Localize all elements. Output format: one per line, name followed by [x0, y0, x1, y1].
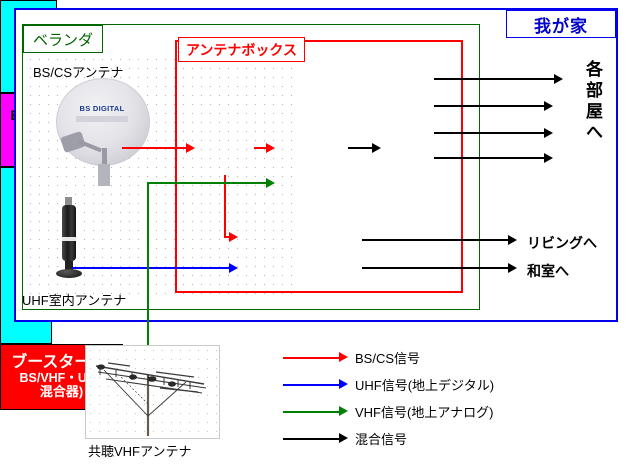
arrow-room-4 — [544, 153, 553, 163]
uhf-indoor-antenna — [56, 205, 82, 283]
legend-label-mixed: 混合信号 — [355, 429, 407, 448]
legend-label-uhf: UHF信号(地上デジタル) — [355, 375, 494, 394]
arrow-uhf-to-booster — [229, 263, 238, 273]
arrow-to-washitsu — [508, 263, 517, 273]
legend-swatch-bscs — [283, 357, 341, 359]
house-label: 我が家 — [506, 10, 616, 38]
legend-arrow-uhf — [339, 379, 348, 389]
arrow-room-2 — [544, 101, 553, 111]
legend: BS/CS信号 UHF信号(地上デジタル) VHF信号(地上アナログ) 混合信号 — [283, 348, 583, 448]
line-room-1 — [434, 78, 556, 80]
booster-line-3: 混合器) — [40, 385, 83, 399]
dish-mast — [98, 164, 110, 186]
legend-arrow-mixed — [339, 433, 348, 443]
legend-swatch-uhf — [283, 384, 341, 386]
legend-swatch-mixed — [283, 438, 341, 440]
legend-arrow-vhf — [339, 406, 348, 416]
line-bscs-to-splitter — [122, 147, 188, 149]
diagram-canvas: 我が家 ベランダ アンテナボックス BS/CSアンテナ BS DIGITAL U… — [0, 0, 630, 472]
arrow-to-living — [508, 235, 517, 245]
shared-vhf-antenna-caption: 共聴VHFアンテナ — [88, 441, 191, 460]
line-to-living — [362, 239, 510, 241]
arrow-bscs-to-splitter — [186, 143, 195, 153]
line-to-washitsu — [362, 267, 510, 269]
uhf-indoor-antenna-caption: UHF室内アンテナ — [22, 290, 126, 309]
arrow-room-3 — [544, 128, 553, 138]
arrow-room-1 — [554, 74, 563, 84]
line-vhf-vertical — [147, 182, 149, 350]
destination-washitsu-label: 和室へ — [527, 261, 569, 281]
line-room-4 — [434, 157, 546, 159]
bscs-dish-antenna: BS DIGITAL — [48, 78, 158, 183]
line-room-2 — [434, 105, 546, 107]
arrow-splitter-to-booster — [229, 232, 238, 242]
line-mixer-to-splitter6 — [348, 147, 374, 149]
uhf-antenna-base — [56, 269, 82, 278]
legend-label-bscs: BS/CS信号 — [355, 348, 420, 367]
antenna-box-boundary — [175, 40, 463, 293]
arrow-splitter-to-mixer — [266, 143, 275, 153]
destination-rooms-label: 各部屋へ — [577, 60, 601, 144]
antenna-box-label: アンテナボックス — [178, 37, 305, 62]
arrow-mixer-to-splitter6 — [372, 143, 381, 153]
vhf-yagi-antenna-drawing — [86, 346, 219, 438]
line-vhf-to-mixer — [147, 182, 267, 184]
veranda-label: ベランダ — [23, 25, 103, 53]
legend-label-vhf: VHF信号(地上アナログ) — [355, 402, 493, 421]
arrow-vhf-to-mixer — [266, 178, 275, 188]
line-uhf-to-booster — [72, 267, 230, 269]
uhf-antenna-band — [62, 237, 76, 241]
dish-logo: BS DIGITAL — [74, 100, 130, 116]
shared-vhf-antenna-photo — [85, 345, 220, 439]
dish-logo-text: BS DIGITAL — [80, 104, 125, 113]
destination-living-label: リビングへ — [527, 233, 597, 253]
legend-arrow-bscs — [339, 352, 348, 362]
legend-swatch-vhf — [283, 411, 341, 413]
line-room-3 — [434, 132, 546, 134]
dish-logo-underline — [76, 116, 128, 122]
uhf-antenna-body — [62, 205, 76, 261]
